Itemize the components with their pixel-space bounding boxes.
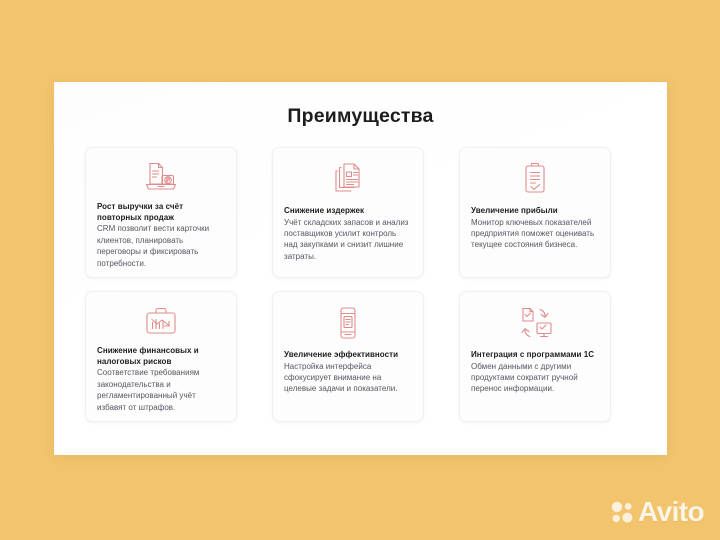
card-body: Учёт складских запасов и анализ поставщи… xyxy=(284,217,412,263)
advantage-card-efficiency[interactable]: Увеличение эффективности Настройка интер… xyxy=(272,291,424,422)
smartphone-interface-icon xyxy=(284,301,412,345)
card-title: Увеличение прибыли xyxy=(471,205,599,216)
advantage-card-risk-reduction[interactable]: Снижение финансовых и налоговых рисков С… xyxy=(85,291,237,422)
advantage-card-cost-reduction[interactable]: Снижение издержек Учёт складских запасов… xyxy=(272,147,424,278)
card-title: Увеличение эффективности xyxy=(284,349,412,360)
card-title: Снижение издержек xyxy=(284,205,412,216)
briefcase-chart-icon xyxy=(97,301,225,341)
avito-watermark: Avito xyxy=(610,498,704,526)
avito-watermark-label: Avito xyxy=(638,498,704,526)
advantages-panel: Преимущества Рост выручки з xyxy=(54,82,667,455)
clipboard-check-icon xyxy=(471,157,599,201)
card-body: Настройка интерфейса сфокусирует внимани… xyxy=(284,361,412,395)
card-title: Снижение финансовых и налоговых рисков xyxy=(97,345,225,367)
advantage-card-revenue-growth[interactable]: Рост выручки за счёт повторных продаж CR… xyxy=(85,147,237,278)
advantages-grid: Рост выручки за счёт повторных продаж CR… xyxy=(85,147,636,422)
card-body: CRM позволит вести карточки клиентов, пл… xyxy=(97,223,225,269)
card-title: Рост выручки за счёт повторных продаж xyxy=(97,201,225,223)
screenshot-canvas: Преимущества Рост выручки з xyxy=(0,0,720,540)
card-body: Монитор ключевых показателей предприятия… xyxy=(471,217,599,251)
advantage-card-profit-increase[interactable]: Увеличение прибыли Монитор ключевых пока… xyxy=(459,147,611,278)
page-title: Преимущества xyxy=(54,105,667,128)
laptop-ruble-document-icon xyxy=(97,157,225,197)
sync-integration-icon xyxy=(471,301,599,345)
card-body: Обмен данными с другими продуктами сокра… xyxy=(471,361,599,395)
stacked-documents-icon xyxy=(284,157,412,201)
card-body: Соответствие требованиям законодательств… xyxy=(97,367,225,413)
avito-logo-icon xyxy=(610,500,635,525)
advantage-card-1c-integration[interactable]: Интеграция с программами 1С Обмен данным… xyxy=(459,291,611,422)
card-title: Интеграция с программами 1С xyxy=(471,349,599,360)
